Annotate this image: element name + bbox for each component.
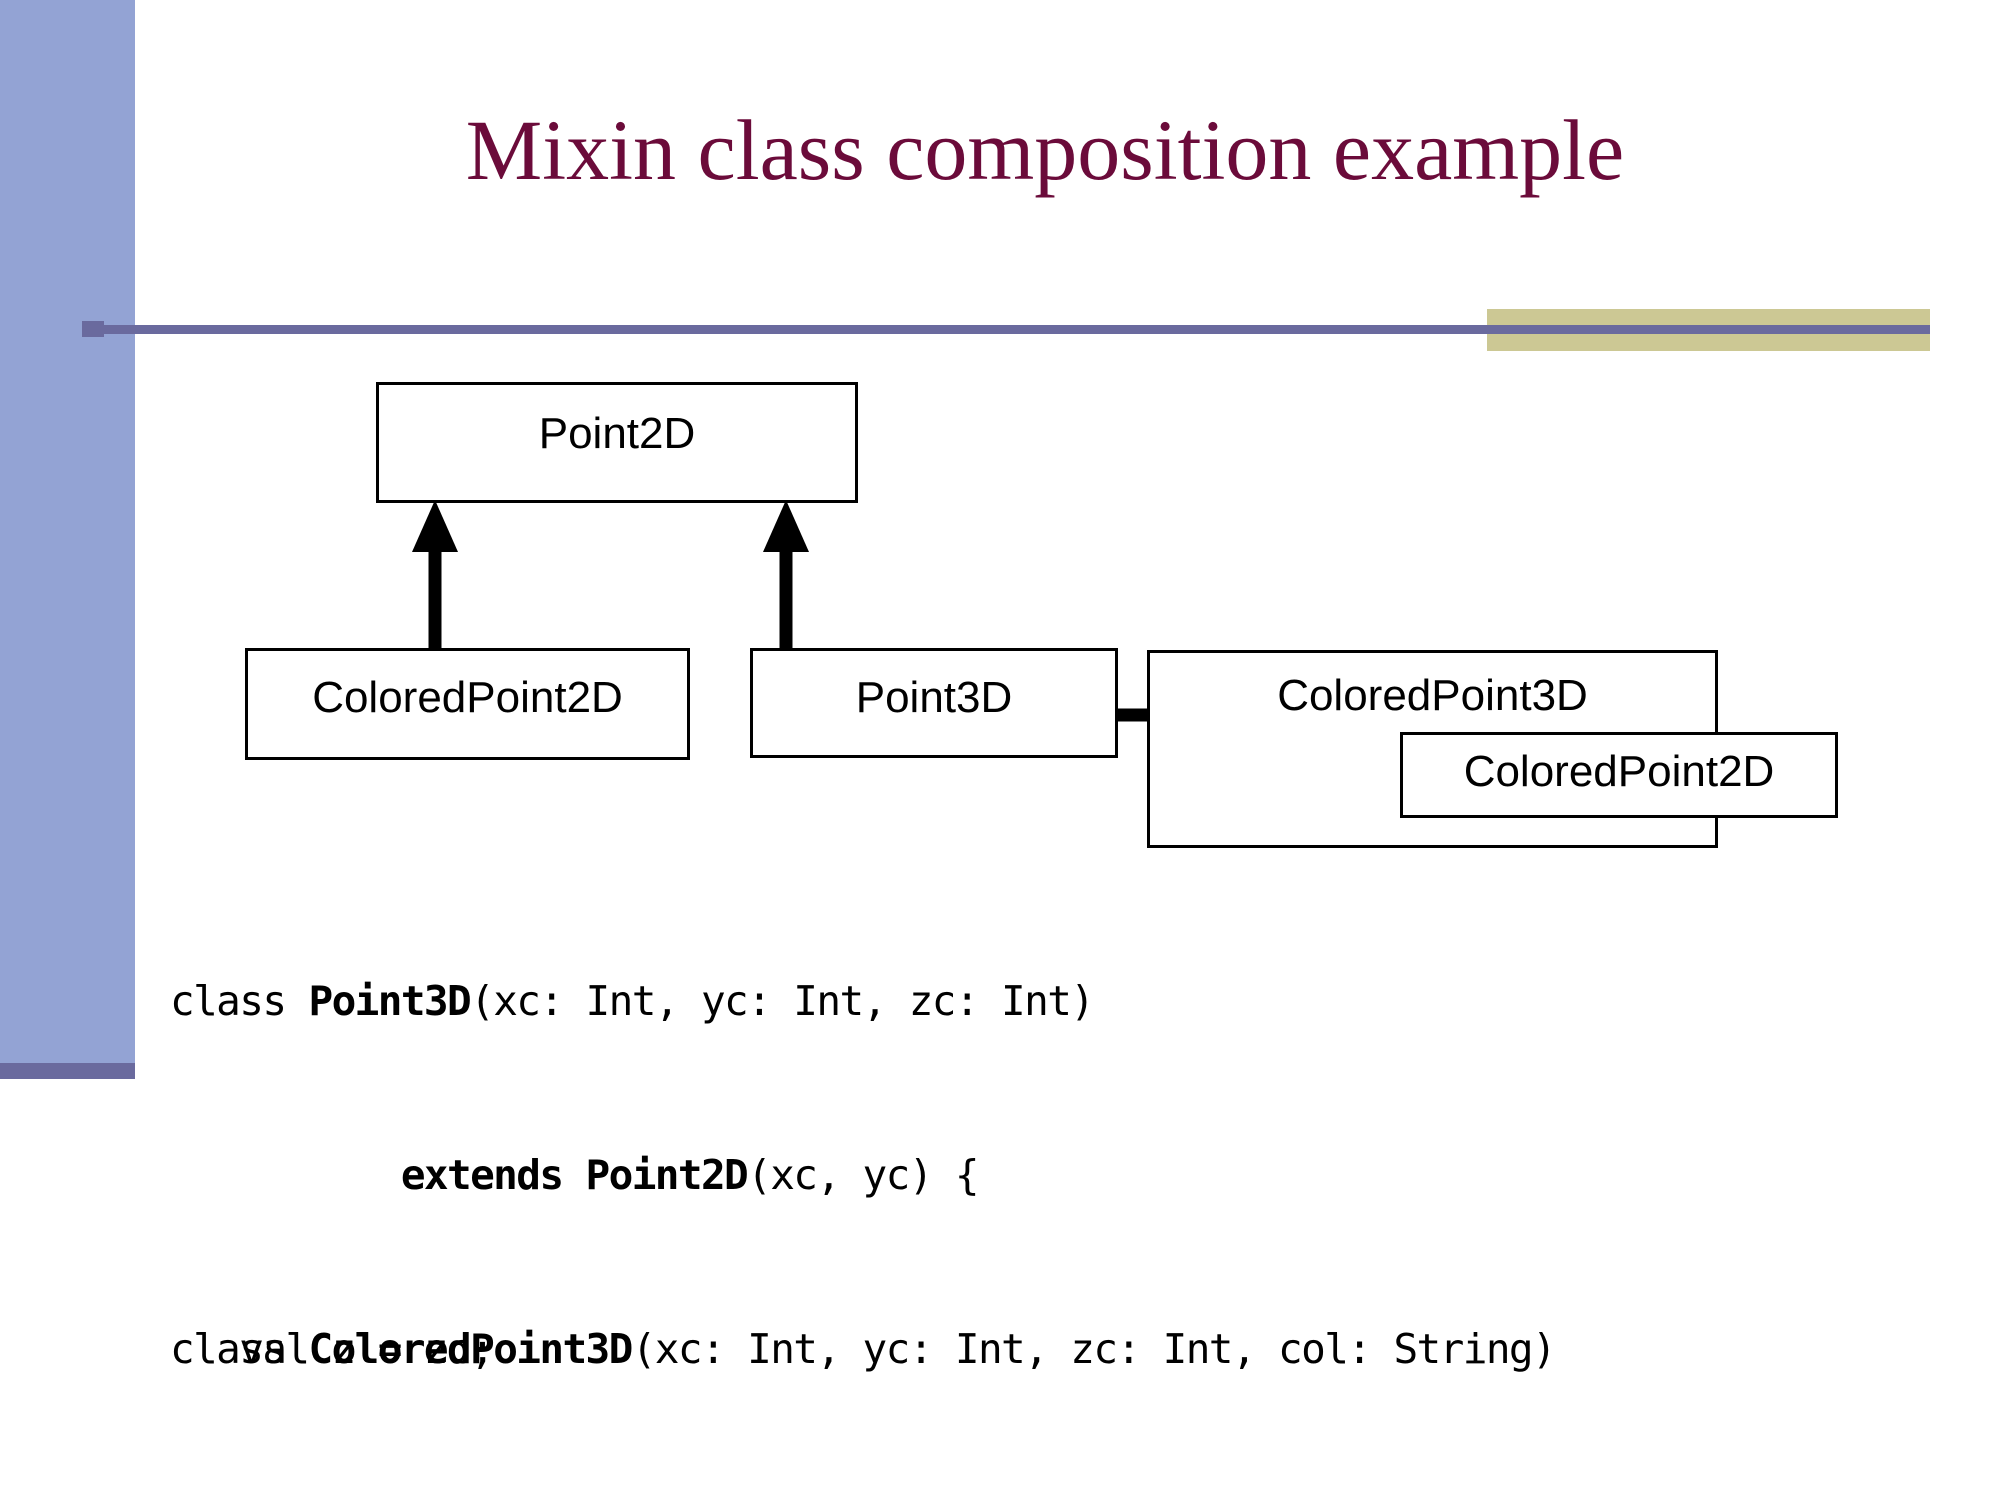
code-params: (xc: Int, yc: Int, zc: Int) <box>470 977 1093 1025</box>
arrow-point3d-to-point2d <box>763 500 809 650</box>
uml-box-point3d[interactable]: Point3D <box>750 648 1118 758</box>
code-params: (xc: Int, yc: Int, zc: Int, col: String) <box>632 1325 1555 1373</box>
uml-box-coloredpoint3d-mixin-label: ColoredPoint2D <box>1403 747 1835 797</box>
sidebar-accent-foot <box>0 1063 135 1079</box>
arrow-coloredpoint2d-to-point2d <box>412 500 458 650</box>
sidebar-accent-band <box>0 0 135 1063</box>
code-keyword-extends: extends <box>401 1151 586 1199</box>
uml-box-coloredpoint3d-mixin[interactable]: ColoredPoint2D <box>1400 732 1838 818</box>
uml-box-coloredpoint2d[interactable]: ColoredPoint2D <box>245 648 690 760</box>
header-rule <box>82 325 1930 334</box>
code-indent <box>170 1151 401 1199</box>
code-line: class Point3D(xc: Int, yc: Int, zc: Int) <box>170 972 1093 1030</box>
page-title: Mixin class composition example <box>135 105 1955 195</box>
code-type-point3d: Point3D <box>309 977 471 1025</box>
code-line: extends Point2D(xc, yc) { <box>170 1146 1093 1204</box>
code-line: class ColoredPoint3D(xc: Int, yc: Int, z… <box>170 1320 1555 1378</box>
uml-box-point3d-label: Point3D <box>753 673 1115 723</box>
code-keyword-class: class <box>170 1325 309 1373</box>
code-line: extends Point3D(xc, yc, zc) <box>170 1494 1555 1500</box>
code-block-coloredpoint3d: class ColoredPoint3D(xc: Int, yc: Int, z… <box>170 1204 1555 1500</box>
code-type-point2d: Point2D <box>586 1151 748 1199</box>
code-args: (xc, yc) { <box>747 1151 978 1199</box>
header-rule-cap <box>82 321 104 337</box>
uml-box-coloredpoint2d-label: ColoredPoint2D <box>248 673 687 723</box>
code-type-coloredpoint3d: ColoredPoint3D <box>309 1325 632 1373</box>
uml-box-point2d-label: Point2D <box>379 409 855 459</box>
code-keyword-class: class <box>170 977 309 1025</box>
uml-box-point2d[interactable]: Point2D <box>376 382 858 503</box>
uml-box-coloredpoint3d-label: ColoredPoint3D <box>1150 671 1715 721</box>
slide-canvas: Mixin class composition example Point2D … <box>0 0 2000 1500</box>
